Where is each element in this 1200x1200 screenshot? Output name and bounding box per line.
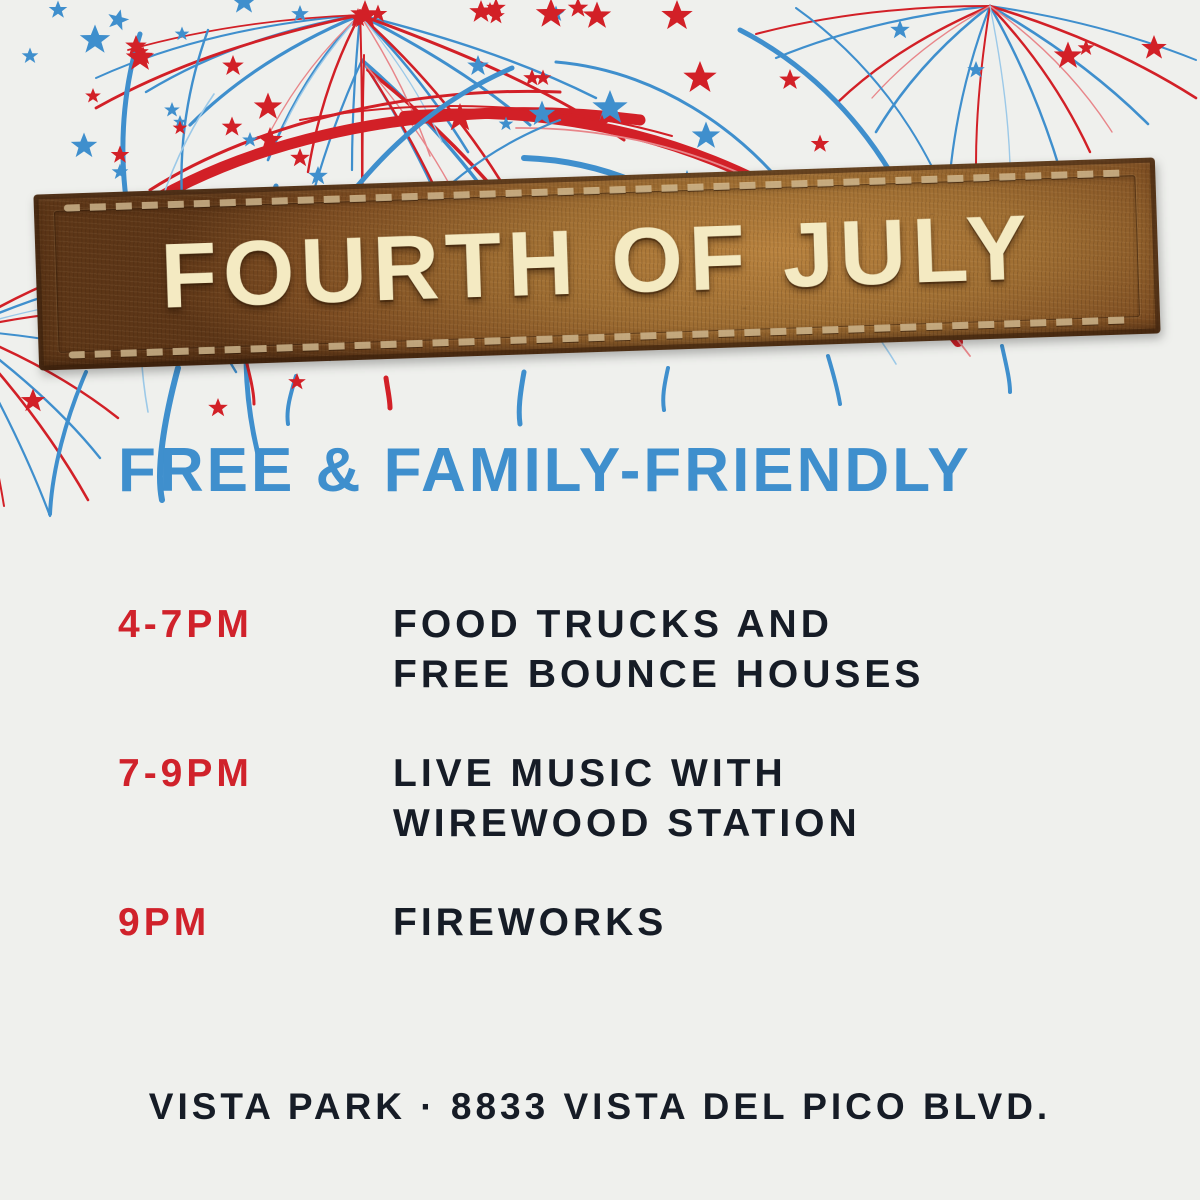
schedule-description: FIREWORKS [393,898,667,948]
banner-title: FOURTH OF JULY [33,157,1160,370]
leather-banner: FOURTH OF JULY [33,157,1160,370]
subtitle-free-family-friendly: FREE & FAMILY-FRIENDLY [118,440,972,502]
schedule-description-line: FIREWORKS [393,898,667,948]
schedule-time: 7-9PM [118,749,393,799]
venue-address: VISTA PARK · 8833 VISTA DEL PICO BLVD. [0,1086,1200,1128]
fourth-of-july-poster: FOURTH OF JULY FREE & FAMILY-FRIENDLY 4-… [0,0,1200,1200]
schedule-description: LIVE MUSIC WITH WIREWOOD STATION [393,749,861,848]
schedule-row: 4-7PM FOOD TRUCKS AND FREE BOUNCE HOUSES [118,600,1118,699]
schedule-row: 7-9PM LIVE MUSIC WITH WIREWOOD STATION [118,749,1118,848]
schedule-description-line: FOOD TRUCKS AND [393,600,924,650]
schedule-row: 9PM FIREWORKS [118,898,1118,948]
schedule-description-line: LIVE MUSIC WITH [393,749,861,799]
firework-burst-right [756,6,1196,174]
schedule-time: 9PM [118,898,393,948]
leather-plaque-surface: FOURTH OF JULY [33,157,1160,370]
schedule-time: 4-7PM [118,600,393,650]
schedule-description-line: WIREWOOD STATION [393,799,861,849]
event-schedule: 4-7PM FOOD TRUCKS AND FREE BOUNCE HOUSES… [118,600,1118,998]
schedule-description-line: FREE BOUNCE HOUSES [393,650,924,700]
schedule-description: FOOD TRUCKS AND FREE BOUNCE HOUSES [393,600,924,699]
